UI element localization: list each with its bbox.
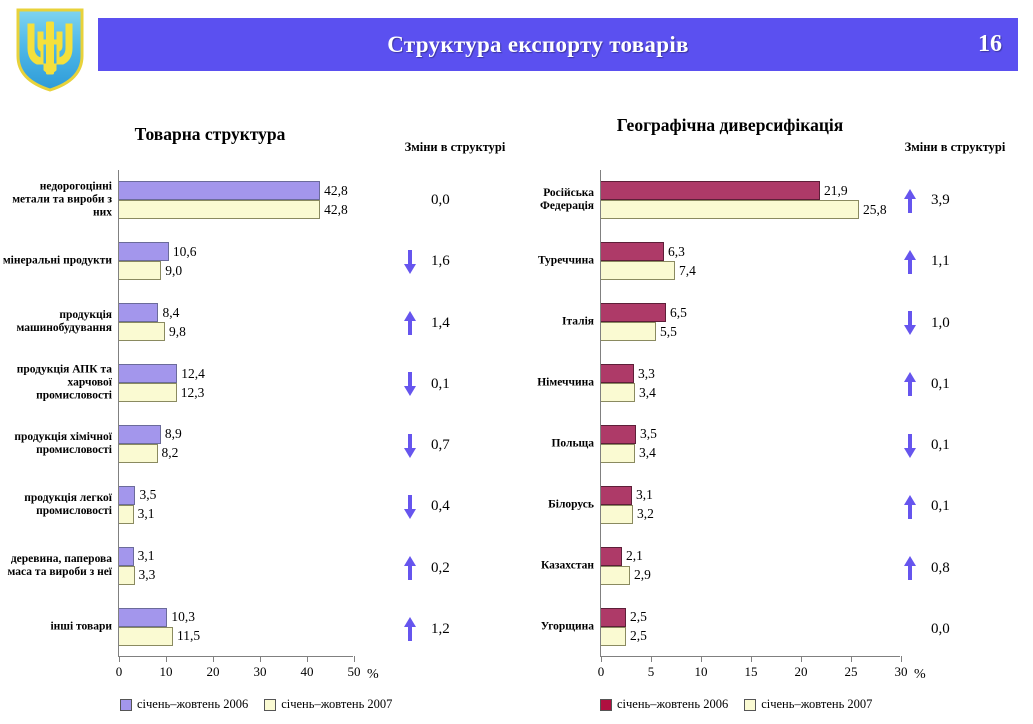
category-label: продукція хімічної промисловості	[1, 431, 119, 457]
category-group: мінеральні продукти10,69,0	[119, 231, 353, 292]
category-label: продукція АПК та харчової промисловості	[1, 364, 119, 403]
bar-value-label: 3,2	[633, 506, 654, 522]
bar-row: 8,9	[119, 425, 353, 444]
bar-value-label: 42,8	[320, 202, 348, 218]
delta-row: 0,1	[895, 494, 1015, 520]
bar-2007	[601, 200, 859, 219]
geographic-diversification-chart: Російська Федерація21,925,8Туреччина6,37…	[500, 160, 920, 705]
legend-swatch	[264, 699, 276, 711]
left-chart-title: Товарна структура	[60, 124, 360, 145]
bar-value-label: 2,5	[626, 628, 647, 644]
bar-2006	[119, 547, 134, 566]
right-delta-column-header: Зміни в структурі	[900, 139, 1010, 155]
axis-tick	[751, 656, 752, 662]
axis-tick	[307, 656, 308, 662]
axis-unit-label: %	[367, 667, 379, 683]
delta-row: 3,9	[895, 188, 1015, 214]
axis-tick-label: 40	[301, 664, 314, 680]
arrow-up-icon	[903, 249, 917, 275]
left-delta-column-header: Зміни в структурі	[400, 139, 510, 155]
category-label: недорогоцінні метали та вироби з них	[1, 181, 119, 220]
bar-row: 6,5	[601, 303, 900, 322]
axis-tick	[801, 656, 802, 662]
slide-header-bar: Структура експорту товарів 16	[98, 18, 1018, 71]
bar-value-label: 8,2	[158, 445, 179, 461]
bar-2007	[119, 566, 135, 585]
delta-value: 0,2	[431, 560, 450, 577]
delta-value: 0,1	[931, 437, 950, 454]
delta-row: 0,2	[395, 555, 515, 581]
page-number: 16	[978, 31, 1018, 58]
category-label: Польща	[501, 437, 601, 450]
bar-2007	[119, 200, 320, 219]
axis-tick-label: 50	[348, 664, 361, 680]
arrow-down-icon	[403, 433, 417, 459]
delta-row: 0,1	[395, 371, 515, 397]
chart-legend: січень–жовтень 2006січень–жовтень 2007	[120, 697, 392, 712]
category-group: інші товари10,311,5	[119, 596, 353, 657]
bar-value-label: 3,3	[634, 366, 655, 382]
bar-row: 3,1	[601, 486, 900, 505]
legend-item[interactable]: січень–жовтень 2007	[264, 697, 392, 712]
bar-2007	[601, 322, 656, 341]
delta-value: 0,1	[931, 376, 950, 393]
bar-value-label: 3,4	[635, 385, 656, 401]
bar-value-label: 10,6	[169, 244, 197, 260]
bar-value-label: 7,4	[675, 263, 696, 279]
legend-item[interactable]: січень–жовтень 2006	[120, 697, 248, 712]
bar-2007	[119, 627, 173, 646]
axis-tick-label: 25	[845, 664, 858, 680]
delta-value: 0,4	[431, 498, 450, 515]
category-group: Польща3,53,4	[601, 414, 900, 475]
legend-label: січень–жовтень 2007	[761, 697, 872, 712]
bar-value-label: 2,5	[626, 609, 647, 625]
axis-tick	[119, 656, 120, 662]
arrow-down-icon	[903, 310, 917, 336]
bar-row: 8,4	[119, 303, 353, 322]
bar-2006	[601, 364, 634, 383]
category-group: Російська Федерація21,925,8	[601, 170, 900, 231]
axis-tick	[166, 656, 167, 662]
delta-value: 0,8	[931, 560, 950, 577]
category-label: Німеччина	[501, 377, 601, 390]
bar-value-label: 12,4	[177, 366, 205, 382]
bar-2007	[601, 444, 635, 463]
bar-row: 3,4	[601, 383, 900, 402]
page-title: Структура експорту товарів	[98, 32, 978, 58]
bar-value-label: 3,1	[134, 548, 155, 564]
chart-legend: січень–жовтень 2006січень–жовтень 2007	[600, 697, 872, 712]
legend-label: січень–жовтень 2006	[137, 697, 248, 712]
plot-area: недорогоцінні метали та вироби з них42,8…	[118, 170, 353, 657]
axis-tick-label: 15	[745, 664, 758, 680]
category-label: Білорусь	[501, 498, 601, 511]
bar-value-label: 3,4	[635, 445, 656, 461]
category-group: продукція хімічної промисловості8,98,2	[119, 414, 353, 475]
delta-row: 1,6	[395, 249, 515, 275]
arrow-up-icon	[903, 371, 917, 397]
axis-tick-label: 30	[895, 664, 908, 680]
category-group: Білорусь3,13,2	[601, 474, 900, 535]
delta-value: 1,1	[931, 253, 950, 270]
arrow-down-icon	[403, 249, 417, 275]
delta-row: 0,4	[395, 494, 515, 520]
category-label: деревина, паперова маса та вироби з неї	[1, 553, 119, 579]
bar-value-label: 10,3	[167, 609, 195, 625]
bar-2007	[601, 383, 635, 402]
bar-2007	[601, 505, 633, 524]
bar-2006	[119, 364, 177, 383]
bar-2006	[601, 486, 632, 505]
bar-2007	[601, 261, 675, 280]
bar-value-label: 3,5	[636, 426, 657, 442]
axis-tick	[213, 656, 214, 662]
bar-2006	[119, 486, 135, 505]
bar-value-label: 21,9	[820, 183, 848, 199]
category-group: Німеччина3,33,4	[601, 353, 900, 414]
bar-value-label: 9,8	[165, 324, 186, 340]
bar-value-label: 9,0	[161, 263, 182, 279]
left-delta-column: 0,01,61,40,10,70,40,21,2	[395, 170, 515, 660]
arrow-down-icon	[403, 494, 417, 520]
bar-row: 5,5	[601, 322, 900, 341]
bar-row: 42,8	[119, 200, 353, 219]
plot-area: Російська Федерація21,925,8Туреччина6,37…	[600, 170, 900, 657]
bar-row: 25,8	[601, 200, 900, 219]
bar-row: 2,1	[601, 547, 900, 566]
delta-row: 0,1	[895, 371, 1015, 397]
bar-row: 10,6	[119, 242, 353, 261]
right-delta-column: 3,91,11,00,10,10,10,80,0	[895, 170, 1015, 660]
legend-item[interactable]: січень–жовтень 2006	[600, 697, 728, 712]
bar-2006	[601, 242, 664, 261]
bar-row: 3,1	[119, 505, 353, 524]
bar-2007	[601, 627, 626, 646]
bar-value-label: 3,3	[135, 567, 156, 583]
legend-label: січень–жовтень 2007	[281, 697, 392, 712]
bar-value-label: 3,5	[135, 487, 156, 503]
bar-row: 21,9	[601, 181, 900, 200]
ukraine-coat-of-arms-icon	[8, 4, 92, 94]
bar-2006	[119, 608, 167, 627]
bar-value-label: 2,9	[630, 567, 651, 583]
category-group: продукція АПК та харчової промисловості1…	[119, 353, 353, 414]
delta-value: 1,0	[931, 315, 950, 332]
category-label: інші товари	[1, 620, 119, 633]
axis-tick	[601, 656, 602, 662]
axis-tick	[851, 656, 852, 662]
bar-row: 12,3	[119, 383, 353, 402]
delta-row: 0,1	[895, 433, 1015, 459]
bar-row: 3,5	[119, 486, 353, 505]
bar-2006	[601, 181, 820, 200]
bar-2007	[601, 566, 630, 585]
bar-2006	[601, 425, 636, 444]
axis-tick-label: 20	[795, 664, 808, 680]
bar-2006	[601, 547, 622, 566]
bar-row: 3,3	[601, 364, 900, 383]
category-label: Туреччина	[501, 255, 601, 268]
bar-2007	[119, 505, 134, 524]
category-group: Казахстан2,12,9	[601, 535, 900, 596]
bar-2007	[119, 444, 158, 463]
axis-tick-label: 10	[160, 664, 173, 680]
bar-value-label: 25,8	[859, 202, 887, 218]
bar-2007	[119, 261, 161, 280]
bar-2006	[119, 242, 169, 261]
arrow-up-icon	[903, 188, 917, 214]
delta-value: 0,1	[931, 498, 950, 515]
bar-row: 12,4	[119, 364, 353, 383]
axis-tick	[701, 656, 702, 662]
arrow-up-icon	[903, 494, 917, 520]
axis-tick	[651, 656, 652, 662]
delta-value: 0,1	[431, 376, 450, 393]
commodity-structure-chart: недорогоцінні метали та вироби з них42,8…	[0, 160, 420, 705]
bar-row: 9,0	[119, 261, 353, 280]
category-group: продукція легкої промисловості3,53,1	[119, 474, 353, 535]
arrow-up-icon	[403, 555, 417, 581]
arrow-up-icon	[903, 555, 917, 581]
bar-row: 10,3	[119, 608, 353, 627]
bar-2006	[119, 181, 320, 200]
delta-row: 1,0	[895, 310, 1015, 336]
bar-value-label: 8,9	[161, 426, 182, 442]
bar-row: 2,5	[601, 608, 900, 627]
category-label: Російська Федерація	[501, 187, 601, 213]
category-group: Італія6,55,5	[601, 292, 900, 353]
bar-2006	[601, 608, 626, 627]
delta-row: 1,2	[395, 616, 515, 642]
axis-tick-label: 10	[695, 664, 708, 680]
bar-2006	[119, 303, 158, 322]
axis-tick	[354, 656, 355, 662]
delta-value: 0,0	[931, 621, 950, 638]
axis-tick	[260, 656, 261, 662]
category-label: мінеральні продукти	[1, 255, 119, 268]
arrow-down-icon	[403, 371, 417, 397]
delta-row: 0,0	[395, 188, 515, 214]
axis-tick-label: 5	[648, 664, 655, 680]
delta-value: 1,4	[431, 315, 450, 332]
bar-2007	[119, 383, 177, 402]
bar-row: 11,5	[119, 627, 353, 646]
bar-row: 2,9	[601, 566, 900, 585]
legend-swatch	[120, 699, 132, 711]
legend-swatch	[600, 699, 612, 711]
delta-row: 1,1	[895, 249, 1015, 275]
bar-value-label: 5,5	[656, 324, 677, 340]
bar-row: 8,2	[119, 444, 353, 463]
legend-item[interactable]: січень–жовтень 2007	[744, 697, 872, 712]
arrow-up-icon	[403, 310, 417, 336]
bar-row: 3,3	[119, 566, 353, 585]
arrow-up-icon	[403, 616, 417, 642]
delta-value: 1,2	[431, 621, 450, 638]
category-group: Угорщина2,52,5	[601, 596, 900, 657]
bar-value-label: 3,1	[134, 506, 155, 522]
bar-value-label: 8,4	[158, 305, 179, 321]
bar-value-label: 6,5	[666, 305, 687, 321]
legend-swatch	[744, 699, 756, 711]
delta-row: 0,8	[895, 555, 1015, 581]
delta-value: 0,0	[431, 192, 450, 209]
delta-value: 0,7	[431, 437, 450, 454]
category-label: Італія	[501, 316, 601, 329]
bar-value-label: 12,3	[177, 385, 205, 401]
bar-row: 2,5	[601, 627, 900, 646]
axis-tick-label: 0	[598, 664, 605, 680]
bar-row: 3,2	[601, 505, 900, 524]
bar-row: 6,3	[601, 242, 900, 261]
bar-value-label: 11,5	[173, 628, 200, 644]
category-label: продукція машинобудування	[1, 309, 119, 335]
category-group: продукція машинобудування8,49,8	[119, 292, 353, 353]
bar-value-label: 2,1	[622, 548, 643, 564]
right-chart-title: Географічна диверсифікація	[540, 115, 920, 136]
category-label: Угорщина	[501, 620, 601, 633]
bar-row: 3,4	[601, 444, 900, 463]
bar-row: 3,5	[601, 425, 900, 444]
bar-row: 7,4	[601, 261, 900, 280]
category-group: деревина, паперова маса та вироби з неї3…	[119, 535, 353, 596]
bar-value-label: 42,8	[320, 183, 348, 199]
category-group: недорогоцінні метали та вироби з них42,8…	[119, 170, 353, 231]
axis-tick-label: 0	[116, 664, 123, 680]
axis-tick-label: 30	[254, 664, 267, 680]
delta-value: 3,9	[931, 192, 950, 209]
delta-row: 0,0	[895, 616, 1015, 642]
bar-value-label: 3,1	[632, 487, 653, 503]
bar-2006	[119, 425, 161, 444]
bar-2007	[119, 322, 165, 341]
arrow-down-icon	[903, 433, 917, 459]
bar-value-label: 6,3	[664, 244, 685, 260]
legend-label: січень–жовтень 2006	[617, 697, 728, 712]
bar-row: 3,1	[119, 547, 353, 566]
axis-tick-label: 20	[207, 664, 220, 680]
category-label: Казахстан	[501, 559, 601, 572]
category-group: Туреччина6,37,4	[601, 231, 900, 292]
bar-2006	[601, 303, 666, 322]
category-label: продукція легкої промисловості	[1, 492, 119, 518]
no-change-icon	[403, 188, 417, 214]
delta-row: 0,7	[395, 433, 515, 459]
axis-unit-label: %	[914, 667, 926, 683]
delta-row: 1,4	[395, 310, 515, 336]
delta-value: 1,6	[431, 253, 450, 270]
no-change-icon	[903, 616, 917, 642]
bar-row: 9,8	[119, 322, 353, 341]
bar-row: 42,8	[119, 181, 353, 200]
